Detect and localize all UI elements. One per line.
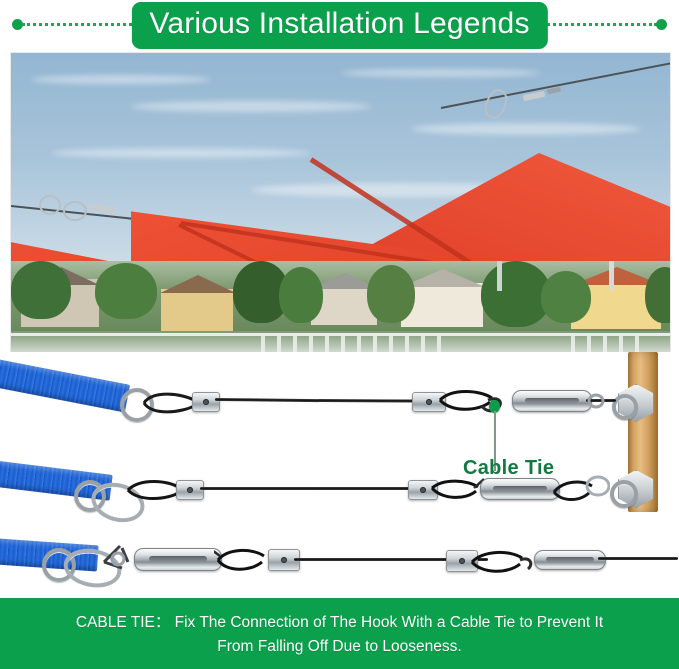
hook-icon — [430, 476, 486, 506]
railing-baluster — [293, 336, 297, 353]
railing-baluster — [405, 336, 409, 353]
dot-marker-right-icon — [656, 19, 667, 30]
railing-baluster — [421, 336, 425, 353]
header-band: Various Installation Legends — [0, 0, 679, 50]
footer-line-2: From Falling Off Due to Looseness. — [76, 635, 603, 659]
hook-loop-icon — [214, 542, 274, 576]
clamp-bolt-icon — [187, 487, 193, 493]
hook-loop-icon — [470, 544, 536, 578]
wire-cable — [598, 557, 678, 560]
hardware-diagram: Cable Tie — [0, 352, 679, 600]
railing-baluster — [277, 336, 281, 353]
mast-pole — [497, 261, 502, 291]
turnbuckle-slot — [546, 557, 594, 562]
eye-terminal-icon — [586, 390, 620, 414]
wire-cable — [215, 398, 320, 402]
railing-baluster — [437, 336, 441, 353]
turnbuckle — [480, 478, 560, 500]
railing-baluster — [389, 336, 393, 353]
clamp-bolt-icon — [281, 557, 287, 563]
eye-bolt-icon — [98, 540, 138, 578]
snap-hook-icon — [552, 474, 610, 506]
cloud-streak — [411, 123, 641, 135]
installation-photo — [10, 52, 671, 354]
balcony-railing — [11, 331, 670, 353]
cloud-streak — [51, 148, 311, 158]
ring-photo-icon — [63, 201, 87, 221]
cloud-streak — [31, 75, 211, 84]
cable-clamp — [192, 392, 220, 412]
cloud-streak — [131, 101, 371, 112]
railing-baluster — [603, 336, 607, 353]
railing-baluster — [325, 336, 329, 353]
clamp-bolt-icon — [459, 558, 465, 564]
wire-cable — [318, 487, 414, 490]
turnbuckle — [134, 548, 222, 571]
tree — [645, 267, 670, 323]
mast-pole — [609, 261, 614, 291]
neighborhood-background — [11, 261, 670, 353]
dotted-rule-right — [542, 23, 657, 29]
railing-baluster — [309, 336, 313, 353]
clamp-bolt-icon — [426, 399, 432, 405]
wire-cable — [200, 487, 320, 490]
turnbuckle-slot — [149, 556, 208, 561]
railing-baluster — [261, 336, 265, 353]
mounting-ring — [610, 480, 638, 508]
cable-clamp — [176, 480, 204, 500]
railing-baluster — [357, 336, 361, 353]
railing-baluster — [619, 336, 623, 353]
blue-strap — [0, 358, 130, 412]
wire-cable — [294, 558, 414, 561]
turnbuckle — [534, 550, 606, 570]
footer-line-1: CABLE TIE： Fix The Connection of The Hoo… — [76, 614, 603, 631]
tree — [11, 261, 71, 319]
turnbuckle — [512, 390, 592, 412]
turnbuckle-slot — [525, 398, 578, 403]
footer-caption: CABLE TIE： Fix The Connection of The Hoo… — [0, 600, 679, 669]
turnbuckle-slot — [493, 486, 546, 491]
tree — [279, 267, 323, 323]
railing-baluster — [373, 336, 377, 353]
dotted-rule-left — [22, 23, 137, 29]
cloud-streak — [341, 69, 541, 77]
clamp-bolt-icon — [203, 399, 209, 405]
railing-baluster — [587, 336, 591, 353]
tree — [541, 271, 591, 323]
product-infographic: Various Installation Legends — [0, 0, 679, 669]
roof — [153, 275, 243, 293]
tree — [95, 263, 157, 319]
clamp-bolt-icon — [420, 487, 426, 493]
railing-baluster — [341, 336, 345, 353]
railing-baluster — [635, 336, 639, 353]
footer-text-block: CABLE TIE： Fix The Connection of The Hoo… — [68, 611, 611, 659]
house — [161, 289, 233, 331]
railing-baluster — [571, 336, 575, 353]
ring-photo-icon — [39, 195, 61, 215]
title-banner: Various Installation Legends — [131, 2, 547, 49]
tree — [367, 265, 415, 323]
wire-cable — [318, 399, 418, 403]
page-title: Various Installation Legends — [149, 5, 529, 43]
